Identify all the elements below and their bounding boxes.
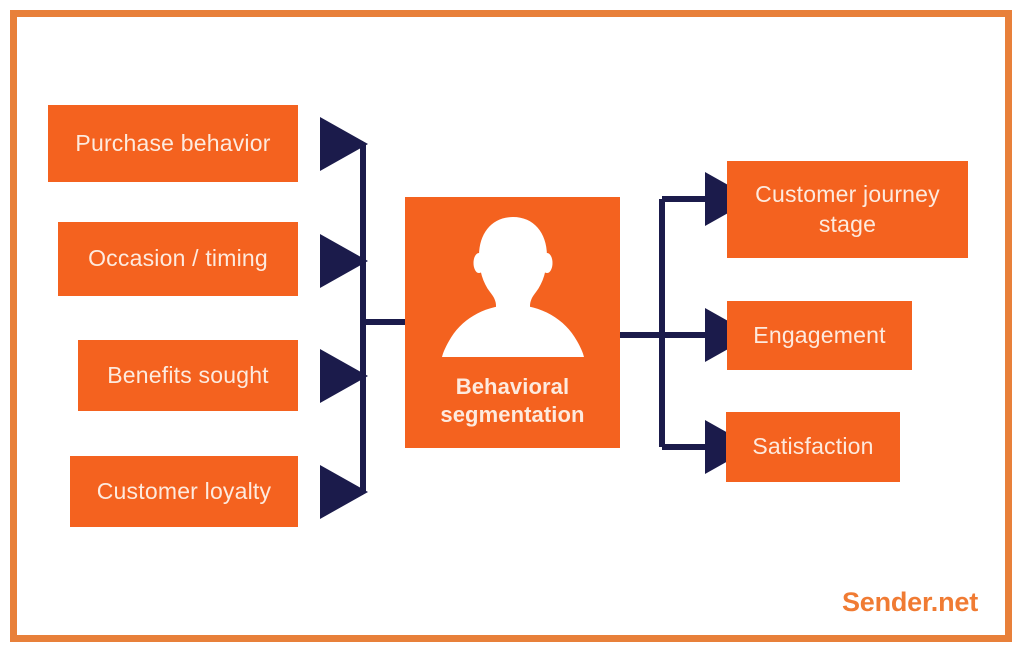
branch-label: Customer journey stage — [737, 180, 958, 239]
branch-box-purchase-behavior[interactable]: Purchase behavior — [48, 105, 298, 182]
branch-label: Customer loyalty — [97, 477, 271, 506]
diagram-canvas: Purchase behavior Occasion / timing Bene… — [0, 0, 1022, 652]
branch-box-benefits-sought[interactable]: Benefits sought — [78, 340, 298, 411]
branch-label: Satisfaction — [752, 432, 873, 461]
sender-net-logo[interactable]: Sender.net — [842, 587, 978, 618]
branch-box-customer-journey-stage[interactable]: Customer journey stage — [727, 161, 968, 258]
center-node-behavioral-segmentation[interactable]: Behavioral segmentation — [405, 197, 620, 448]
branch-label: Purchase behavior — [75, 129, 270, 158]
branch-box-customer-loyalty[interactable]: Customer loyalty — [70, 456, 298, 527]
branch-box-occasion-timing[interactable]: Occasion / timing — [58, 222, 298, 296]
branch-box-engagement[interactable]: Engagement — [727, 301, 912, 370]
branch-box-satisfaction[interactable]: Satisfaction — [726, 412, 900, 482]
branch-label: Engagement — [753, 321, 885, 350]
branch-label: Benefits sought — [107, 361, 269, 390]
branch-label: Occasion / timing — [88, 244, 268, 273]
person-silhouette-icon — [437, 213, 589, 361]
center-node-label: Behavioral segmentation — [440, 373, 584, 428]
